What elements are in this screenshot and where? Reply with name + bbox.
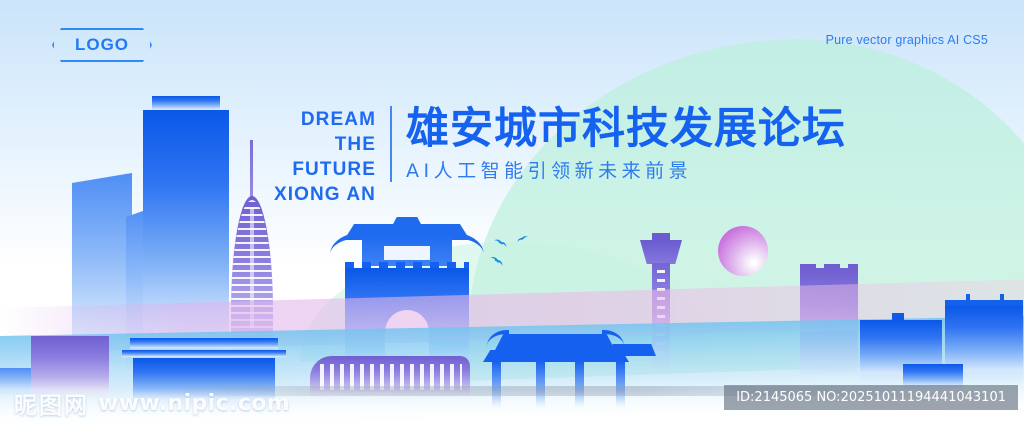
gate-eave-left-shape bbox=[330, 232, 365, 256]
english-title-line2: FUTURE bbox=[258, 157, 376, 182]
title-divider bbox=[390, 106, 392, 182]
spire-antenna-shape bbox=[250, 140, 253, 202]
status-badge: ID:2145065 NO:20251011194441043101 bbox=[724, 385, 1018, 410]
gate-roof-ridge-shape bbox=[392, 217, 422, 226]
logo-badge[interactable]: LOGO bbox=[52, 28, 152, 62]
paifang-side-roof-shape bbox=[608, 344, 656, 356]
logo-text: LOGO bbox=[75, 35, 129, 55]
tagline-text: Pure vector graphics AI CS5 bbox=[826, 33, 988, 47]
gate-eave-right-shape bbox=[450, 232, 485, 256]
paifang-upper-roof-shape bbox=[495, 334, 615, 350]
observation-tower-head-shape bbox=[640, 240, 682, 264]
observation-tower-cap-shape bbox=[652, 233, 670, 241]
english-title: DREAM THE FUTURE XIONG AN bbox=[258, 104, 376, 207]
watermark: 昵图网 www.nipic.com bbox=[14, 386, 290, 420]
english-title-line3: XIONG AN bbox=[258, 182, 376, 207]
page-title: 雄安城市科技发展论坛 bbox=[406, 104, 846, 154]
page-subtitle: AI人工智能引领新未来前景 bbox=[406, 156, 846, 186]
watermark-url-text: www.nipic.com bbox=[98, 391, 290, 416]
banner-root: LOGO Pure vector graphics AI CS5 DREAM T… bbox=[0, 0, 1024, 432]
platform-cornice-shape bbox=[122, 350, 286, 358]
english-title-line1: DREAM THE bbox=[258, 107, 376, 157]
watermark-cn-text: 昵图网 bbox=[14, 386, 89, 420]
title-block: DREAM THE FUTURE XIONG AN 雄安城市科技发展论坛 AI人… bbox=[258, 104, 846, 207]
gate-window-shape bbox=[384, 246, 430, 260]
sun-circle-icon bbox=[718, 226, 768, 276]
platform-roof-shape bbox=[130, 338, 278, 350]
paifang-lower-roof-shape bbox=[483, 350, 629, 362]
chinese-title-group: 雄安城市科技发展论坛 AI人工智能引领新未来前景 bbox=[406, 104, 846, 186]
